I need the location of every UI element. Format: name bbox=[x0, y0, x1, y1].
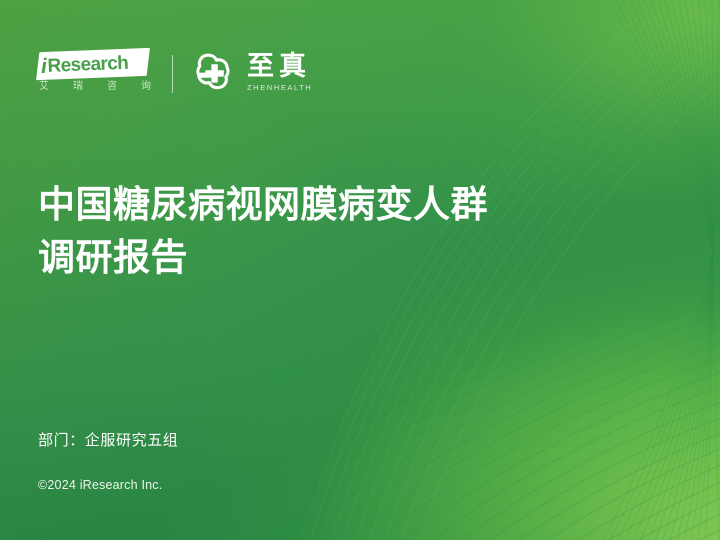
page-title: 中国糖尿病视网膜病变人群 调研报告 bbox=[38, 178, 618, 284]
iresearch-tagline: 艾 瑞 咨 询 bbox=[39, 82, 151, 92]
iresearch-wordmark: i Research bbox=[41, 49, 150, 79]
copyright-label: ©2024 iResearch Inc. bbox=[38, 477, 162, 493]
tagline-char-2: 瑞 bbox=[73, 82, 83, 92]
cloud-cross-icon bbox=[191, 52, 237, 96]
iresearch-logo: i Research 艾 瑞 咨 询 bbox=[38, 46, 150, 102]
zhen-name-cn: 至真 bbox=[247, 52, 312, 82]
iresearch-name: Research bbox=[47, 53, 128, 75]
logo-row: i Research 艾 瑞 咨 询 至真 ZHENHEALTH bbox=[38, 46, 312, 102]
zhen-health-logo: 至真 ZHENHEALTH bbox=[191, 46, 312, 102]
zhen-health-text: 至真 ZHENHEALTH bbox=[247, 52, 312, 96]
tagline-char-3: 咨 bbox=[107, 82, 117, 92]
title-line-1: 中国糖尿病视网膜病变人群 bbox=[38, 178, 618, 231]
title-line-2: 调研报告 bbox=[38, 231, 618, 284]
zhen-name-en: ZHENHEALTH bbox=[247, 83, 312, 92]
logo-divider bbox=[172, 55, 173, 93]
department-label: 部门：企服研究五组 bbox=[38, 430, 178, 450]
tagline-char-1: 艾 bbox=[39, 82, 49, 92]
iresearch-i-glyph: i bbox=[41, 55, 47, 76]
tagline-char-4: 询 bbox=[141, 82, 151, 92]
report-cover-slide: i Research 艾 瑞 咨 询 至真 ZHENHEALTH bbox=[0, 0, 720, 540]
